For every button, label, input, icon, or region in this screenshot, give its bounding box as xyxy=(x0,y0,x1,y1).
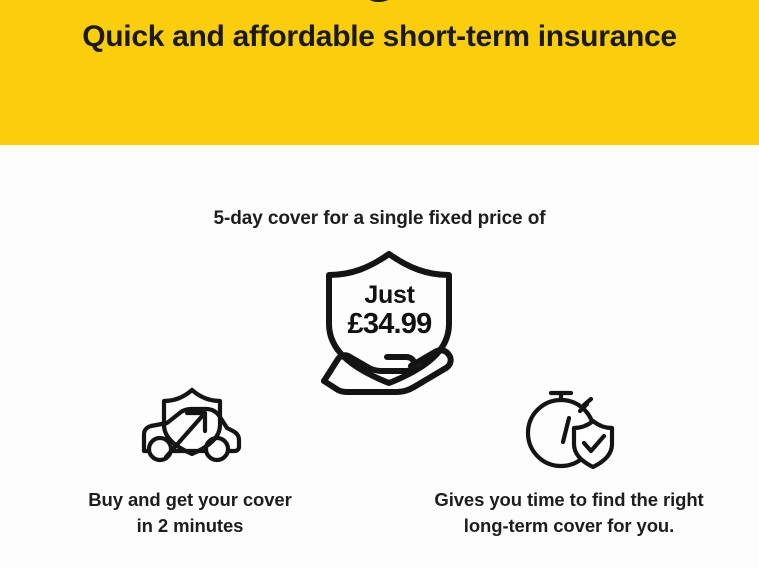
promo-banner: g Quick and affordable short-term insura… xyxy=(0,0,759,145)
feature-caption-line-1: Gives you time to find the right xyxy=(404,487,734,513)
check-shield-icon xyxy=(574,421,612,467)
feature-caption-line-1: Buy and get your cover xyxy=(25,487,355,513)
shield-with-hand-icon xyxy=(307,250,472,395)
car-shield-arrow-icon xyxy=(134,385,246,473)
feature-caption: Buy and get your cover in 2 minutes xyxy=(25,487,355,540)
feature-item-speed: Buy and get your cover in 2 minutes xyxy=(25,383,355,540)
feature-caption-line-2: long-term cover for you. xyxy=(404,513,734,539)
feature-caption-line-2: in 2 minutes xyxy=(25,513,355,539)
stopwatch-check-shield-icon xyxy=(517,385,621,473)
feature-icon-wrapper xyxy=(25,383,355,475)
banner-subtitle: Quick and affordable short-term insuranc… xyxy=(0,18,759,56)
price-intro-text: 5-day cover for a single fixed price of xyxy=(0,208,759,230)
feature-item-time: Gives you time to find the right long-te… xyxy=(404,383,734,540)
feature-caption: Gives you time to find the right long-te… xyxy=(404,487,734,540)
content-area: 5-day cover for a single fixed price of … xyxy=(0,145,759,569)
price-shield-badge: Just £34.99 xyxy=(307,250,472,395)
feature-icon-wrapper xyxy=(404,383,734,475)
